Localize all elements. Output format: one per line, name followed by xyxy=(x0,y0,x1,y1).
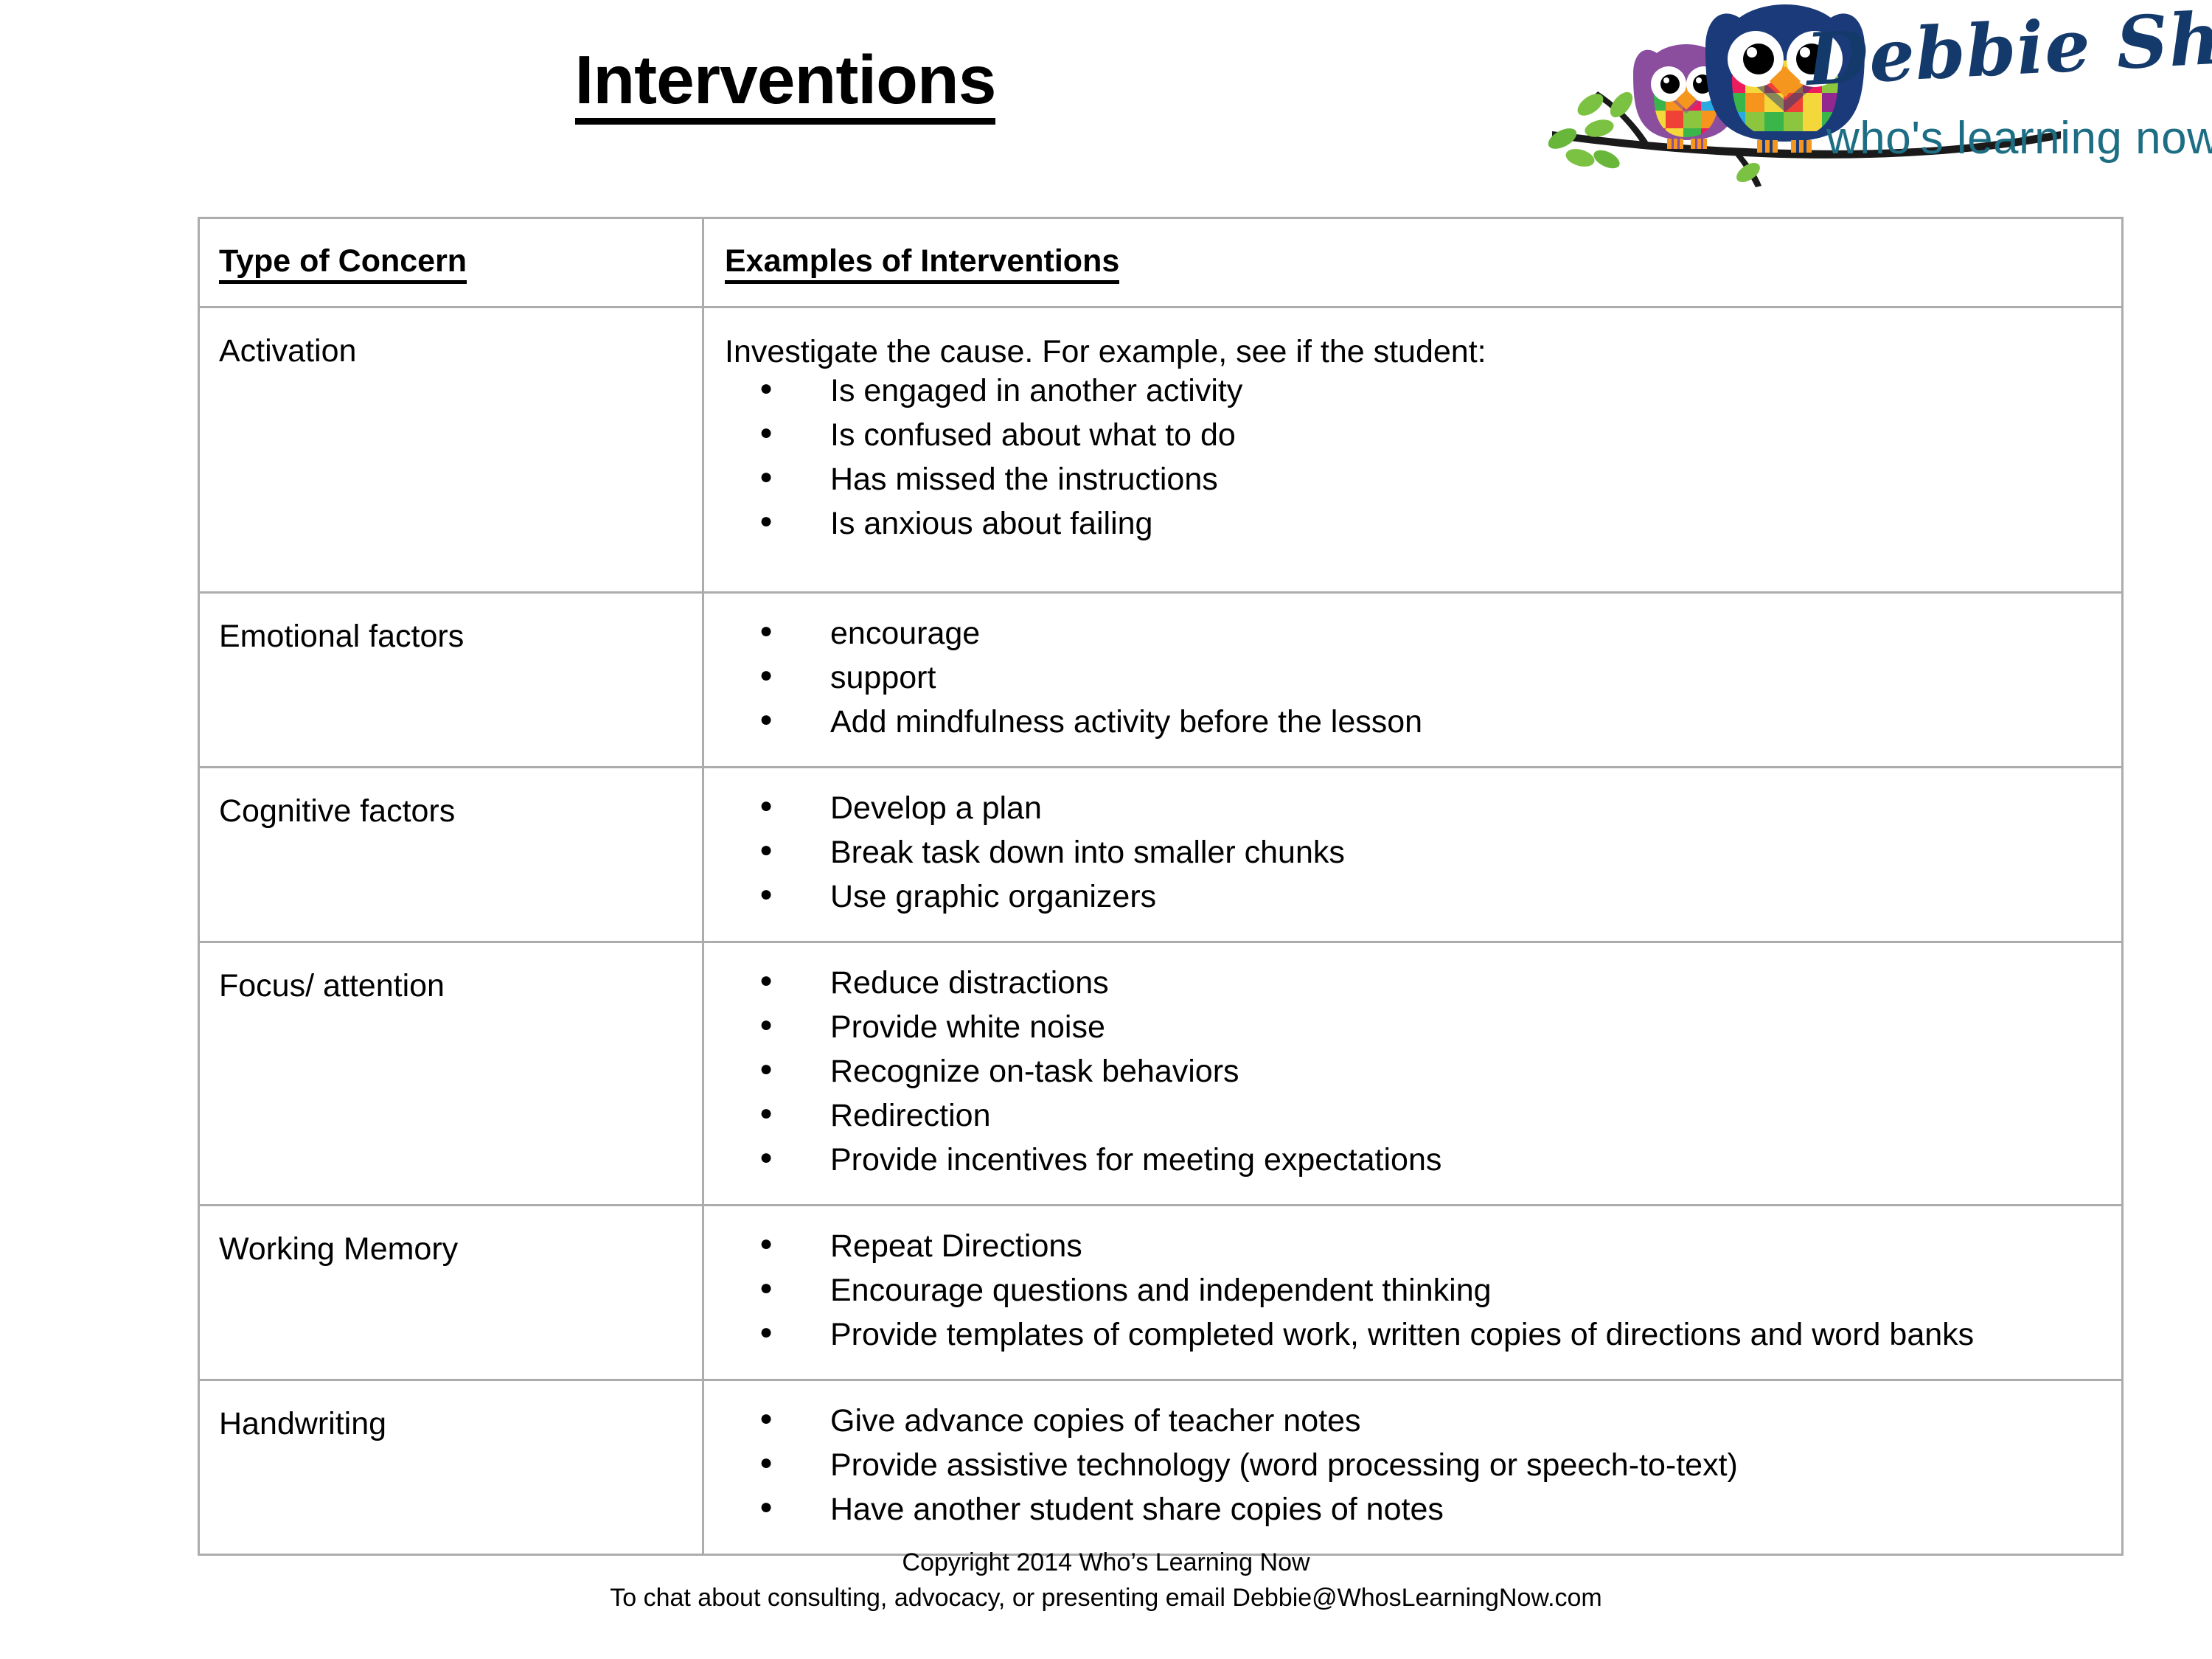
examples-cell: encourage support Add mindfulness activi… xyxy=(703,593,2123,768)
page-header: Interventions xyxy=(0,0,2212,206)
page-title-text: Interventions xyxy=(575,44,996,125)
list-item: Provide templates of completed work, wri… xyxy=(725,1319,2107,1351)
examples-cell: Give advance copies of teacher notes Pro… xyxy=(703,1380,2123,1555)
list-item: support xyxy=(725,662,2107,706)
table-header-row: Type of Concern Examples of Intervention… xyxy=(199,218,2123,307)
concern-cell: Activation xyxy=(199,307,703,593)
table-row: Focus/ attention Reduce distractions Pro… xyxy=(199,942,2123,1206)
table-row: Working Memory Repeat Directions Encoura… xyxy=(199,1206,2123,1380)
column-header-examples-of-interventions: Examples of Interventions xyxy=(725,243,1119,284)
examples-cell: Repeat Directions Encourage questions an… xyxy=(703,1206,2123,1380)
list-item: Recognize on-task behaviors xyxy=(725,1056,2107,1100)
examples-lead-text: Investigate the cause. For example, see … xyxy=(725,333,2107,372)
list-item: Is confused about what to do xyxy=(725,420,2107,464)
list-item: Use graphic organizers xyxy=(725,881,2107,913)
list-item: Has missed the instructions xyxy=(725,464,2107,508)
concern-cell: Handwriting xyxy=(199,1380,703,1555)
list-item: Reduce distractions xyxy=(725,967,2107,1012)
list-item: Have another student share copies of not… xyxy=(725,1494,2107,1526)
list-item: encourage xyxy=(725,618,2107,662)
column-header-type-of-concern: Type of Concern xyxy=(219,243,467,284)
concern-cell: Emotional factors xyxy=(199,593,703,768)
brand-tagline: who's learning now xyxy=(1826,112,2212,164)
concern-cell: Focus/ attention xyxy=(199,942,703,1206)
list-item: Redirection xyxy=(725,1100,2107,1144)
list-item: Break task down into smaller chunks xyxy=(725,837,2107,881)
concern-label: Activation xyxy=(219,333,687,371)
table-row: Cognitive factors Develop a plan Break t… xyxy=(199,768,2123,942)
list-item: Provide white noise xyxy=(725,1012,2107,1056)
concern-label: Handwriting xyxy=(219,1405,687,1444)
list-item: Repeat Directions xyxy=(725,1231,2107,1275)
table-row: Handwriting Give advance copies of teach… xyxy=(199,1380,2123,1555)
examples-bullet-list: Repeat Directions Encourage questions an… xyxy=(725,1231,2107,1351)
examples-cell: Investigate the cause. For example, see … xyxy=(703,307,2123,593)
concern-label: Cognitive factors xyxy=(219,793,687,831)
table-row: Activation Investigate the cause. For ex… xyxy=(199,307,2123,593)
list-item: Is anxious about failing xyxy=(725,508,2107,540)
list-item: Is engaged in another activity xyxy=(725,375,2107,420)
table-row: Emotional factors encourage support Add … xyxy=(199,593,2123,768)
examples-bullet-list: Develop a plan Break task down into smal… xyxy=(725,793,2107,913)
examples-bullet-list: encourage support Add mindfulness activi… xyxy=(725,618,2107,738)
list-item: Provide incentives for meeting expectati… xyxy=(725,1144,2107,1176)
list-item: Add mindfulness activity before the less… xyxy=(725,706,2107,738)
page-footer: Copyright 2014 Who’s Learning Now To cha… xyxy=(0,1545,2212,1616)
concern-label: Emotional factors xyxy=(219,618,687,656)
concern-cell: Working Memory xyxy=(199,1206,703,1380)
list-item: Develop a plan xyxy=(725,793,2107,837)
list-item: Give advance copies of teacher notes xyxy=(725,1405,2107,1450)
examples-bullet-list: Reduce distractions Provide white noise … xyxy=(725,967,2107,1176)
brand-logo: Debbie Sharp who's learning now xyxy=(1545,1,2208,190)
examples-bullet-list: Give advance copies of teacher notes Pro… xyxy=(725,1405,2107,1526)
interventions-table: Type of Concern Examples of Intervention… xyxy=(198,217,2124,1556)
footer-copyright: Copyright 2014 Who’s Learning Now xyxy=(0,1545,2212,1580)
examples-cell: Develop a plan Break task down into smal… xyxy=(703,768,2123,942)
header-cell-examples: Examples of Interventions xyxy=(703,218,2123,307)
footer-contact: To chat about consulting, advocacy, or p… xyxy=(0,1580,2212,1615)
examples-bullet-list: Is engaged in another activity Is confus… xyxy=(725,375,2107,540)
concern-label: Working Memory xyxy=(219,1231,687,1269)
concern-label: Focus/ attention xyxy=(219,967,687,1006)
list-item: Encourage questions and independent thin… xyxy=(725,1275,2107,1319)
page-title: Interventions xyxy=(0,44,1571,125)
examples-cell: Reduce distractions Provide white noise … xyxy=(703,942,2123,1206)
list-item: Provide assistive technology (word proce… xyxy=(725,1450,2107,1494)
header-cell-concern: Type of Concern xyxy=(199,218,703,307)
concern-cell: Cognitive factors xyxy=(199,768,703,942)
